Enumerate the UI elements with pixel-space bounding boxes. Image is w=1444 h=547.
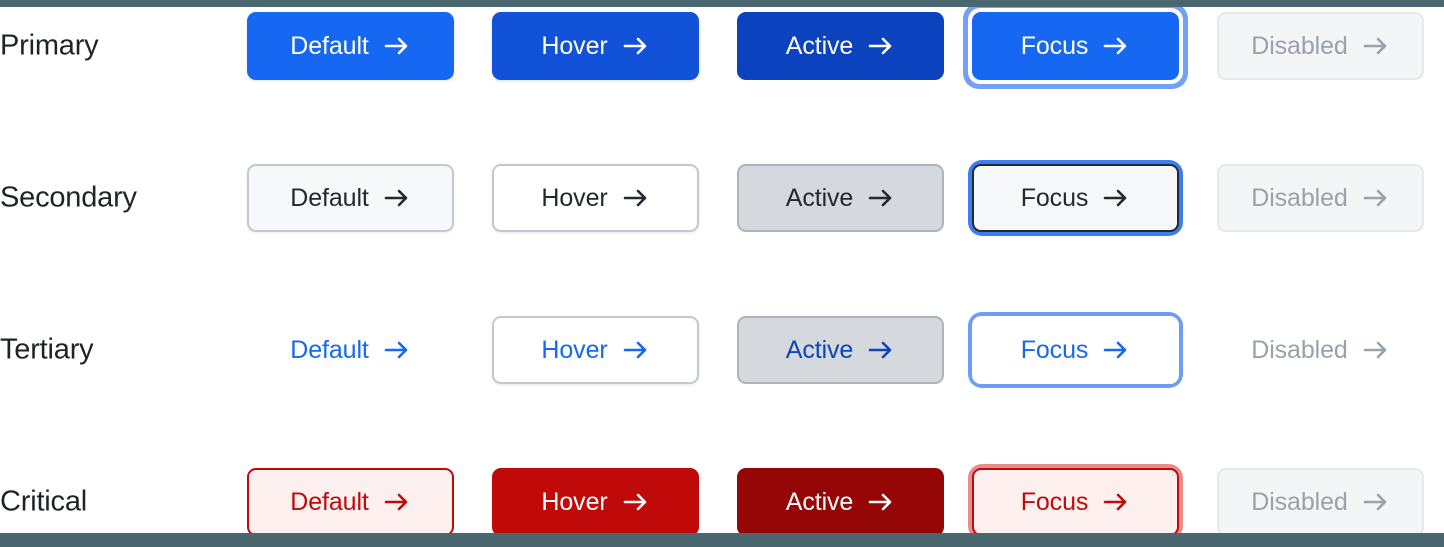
- cell-primary-disabled: Disabled: [1217, 12, 1424, 80]
- row-label-tertiary: Tertiary: [0, 334, 93, 367]
- bottom-chrome-bar: [0, 533, 1444, 547]
- arrow-right-icon: [622, 337, 650, 363]
- button-row-primary: Primary Default Hover Active: [0, 12, 1444, 80]
- button-label: Hover: [541, 488, 607, 517]
- arrow-right-icon: [383, 337, 411, 363]
- tertiary-focus-button[interactable]: Focus: [972, 316, 1179, 384]
- critical-active-button[interactable]: Active: [737, 468, 944, 536]
- critical-default-button[interactable]: Default: [247, 468, 454, 536]
- button-label: Disabled: [1251, 184, 1347, 213]
- cell-primary-hover: Hover: [492, 12, 699, 80]
- tertiary-active-button[interactable]: Active: [737, 316, 944, 384]
- cell-primary-focus: Focus: [972, 12, 1179, 80]
- cell-primary-default: Default: [247, 12, 454, 80]
- primary-active-button[interactable]: Active: [737, 12, 944, 80]
- arrow-right-icon: [867, 489, 895, 515]
- cell-secondary-disabled: Disabled: [1217, 164, 1424, 232]
- primary-hover-button[interactable]: Hover: [492, 12, 699, 80]
- arrow-right-icon: [1362, 185, 1390, 211]
- cell-critical-default: Default: [247, 468, 454, 536]
- secondary-hover-button[interactable]: Hover: [492, 164, 699, 232]
- cell-secondary-default: Default: [247, 164, 454, 232]
- cell-tertiary-default: Default: [247, 316, 454, 384]
- focus-ring: Focus: [963, 3, 1188, 89]
- row-label-secondary: Secondary: [0, 182, 137, 215]
- tertiary-disabled-button: Disabled: [1217, 316, 1424, 384]
- row-label-primary: Primary: [0, 30, 99, 63]
- button-label: Hover: [541, 32, 607, 61]
- button-label: Active: [786, 184, 853, 213]
- cell-critical-disabled: Disabled: [1217, 468, 1424, 536]
- secondary-active-button[interactable]: Active: [737, 164, 944, 232]
- button-label: Disabled: [1251, 336, 1347, 365]
- button-label: Focus: [1021, 184, 1089, 213]
- cell-secondary-active: Active: [737, 164, 944, 232]
- focus-ring-gap: Focus: [968, 8, 1183, 84]
- primary-focus-button[interactable]: Focus: [972, 12, 1179, 80]
- focus-ring: Focus: [968, 464, 1183, 540]
- primary-default-button[interactable]: Default: [247, 12, 454, 80]
- button-label: Default: [290, 488, 369, 517]
- cell-critical-active: Active: [737, 468, 944, 536]
- arrow-right-icon: [1102, 337, 1130, 363]
- focus-ring: Focus: [968, 312, 1183, 388]
- cell-secondary-focus: Focus: [972, 164, 1179, 232]
- button-label: Focus: [1021, 32, 1089, 61]
- button-label: Active: [786, 488, 853, 517]
- button-label: Hover: [541, 336, 607, 365]
- cell-secondary-hover: Hover: [492, 164, 699, 232]
- button-label: Hover: [541, 184, 607, 213]
- cell-tertiary-focus: Focus: [972, 316, 1179, 384]
- row-label-critical: Critical: [0, 486, 87, 519]
- button-label: Default: [290, 32, 369, 61]
- arrow-right-icon: [383, 33, 411, 59]
- arrow-right-icon: [867, 337, 895, 363]
- arrow-right-icon: [622, 489, 650, 515]
- button-row-critical: Critical Default Hover Active Focus: [0, 468, 1444, 536]
- arrow-right-icon: [383, 489, 411, 515]
- cell-critical-hover: Hover: [492, 468, 699, 536]
- button-label: Focus: [1021, 488, 1089, 517]
- arrow-right-icon: [1362, 33, 1390, 59]
- cell-tertiary-hover: Hover: [492, 316, 699, 384]
- secondary-disabled-button: Disabled: [1217, 164, 1424, 232]
- button-states-matrix: Primary Default Hover Active: [0, 0, 1444, 547]
- focus-ring: Focus: [968, 160, 1183, 236]
- critical-focus-button[interactable]: Focus: [972, 468, 1179, 536]
- cell-primary-active: Active: [737, 12, 944, 80]
- arrow-right-icon: [867, 185, 895, 211]
- button-label: Disabled: [1251, 32, 1347, 61]
- button-label: Active: [786, 336, 853, 365]
- cell-critical-focus: Focus: [972, 468, 1179, 536]
- secondary-default-button[interactable]: Default: [247, 164, 454, 232]
- arrow-right-icon: [1362, 489, 1390, 515]
- arrow-right-icon: [383, 185, 411, 211]
- button-label: Default: [290, 184, 369, 213]
- arrow-right-icon: [622, 33, 650, 59]
- button-label: Disabled: [1251, 488, 1347, 517]
- arrow-right-icon: [1102, 489, 1130, 515]
- top-chrome-bar: [0, 0, 1444, 7]
- arrow-right-icon: [622, 185, 650, 211]
- primary-disabled-button: Disabled: [1217, 12, 1424, 80]
- critical-hover-button[interactable]: Hover: [492, 468, 699, 536]
- arrow-right-icon: [1362, 337, 1390, 363]
- button-label: Focus: [1021, 336, 1089, 365]
- secondary-focus-button[interactable]: Focus: [972, 164, 1179, 232]
- button-label: Active: [786, 32, 853, 61]
- cell-tertiary-disabled: Disabled: [1217, 316, 1424, 384]
- arrow-right-icon: [867, 33, 895, 59]
- tertiary-hover-button[interactable]: Hover: [492, 316, 699, 384]
- arrow-right-icon: [1102, 185, 1130, 211]
- critical-disabled-button: Disabled: [1217, 468, 1424, 536]
- cell-tertiary-active: Active: [737, 316, 944, 384]
- arrow-right-icon: [1102, 33, 1130, 59]
- button-row-secondary: Secondary Default Hover Active Focus: [0, 164, 1444, 232]
- button-row-tertiary: Tertiary Default Hover Active Focus: [0, 316, 1444, 384]
- tertiary-default-button[interactable]: Default: [247, 316, 454, 384]
- button-label: Default: [290, 336, 369, 365]
